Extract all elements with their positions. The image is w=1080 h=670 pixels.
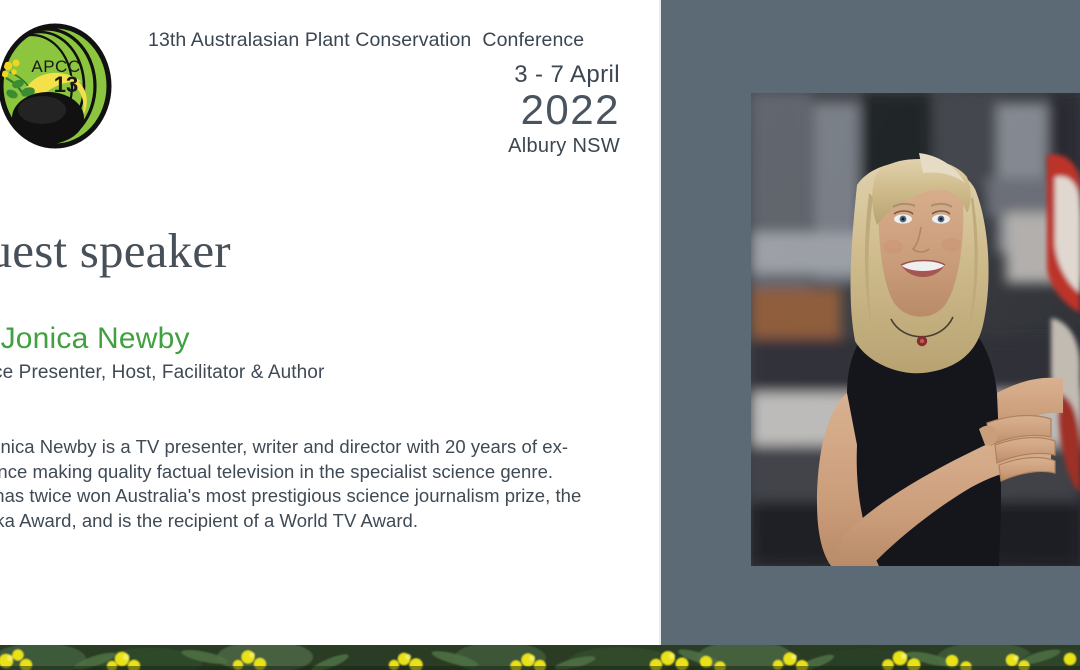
panel-divider [659, 0, 661, 646]
page-title: Guest speaker [0, 222, 231, 280]
event-date-range: 3 - 7 April [290, 62, 620, 88]
wattle-flower-strip [0, 645, 1080, 670]
speaker-role: Science Presenter, Host, Facilitator & A… [0, 360, 324, 386]
svg-text:13: 13 [54, 72, 78, 97]
apcc-13-logo: APCC 13 [0, 22, 122, 150]
event-year: 2022 [290, 88, 620, 132]
poster-canvas: APCC 13 13th Australasian Plant Conserva… [0, 0, 1080, 670]
speaker-name: Dr Jonica Newby [0, 320, 190, 358]
event-date-block: 3 - 7 April 2022 Albury NSW [290, 62, 620, 158]
conference-title: 13th Australasian Plant Conservation Con… [148, 29, 618, 52]
speaker-portrait [751, 93, 1080, 566]
event-location: Albury NSW [290, 134, 620, 158]
speaker-bio: Dr Jonica Newby is a TV presenter, write… [0, 435, 656, 533]
white-content-panel: APCC 13 13th Australasian Plant Conserva… [0, 0, 659, 646]
